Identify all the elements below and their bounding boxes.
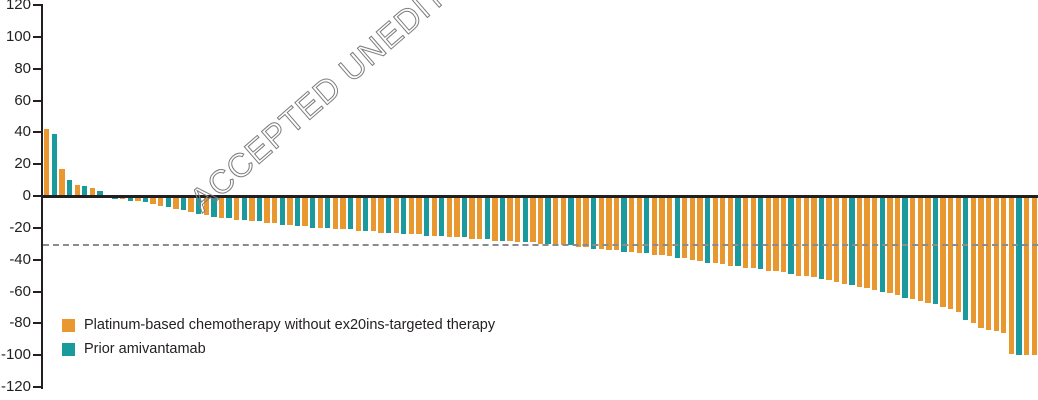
y-axis-tick <box>33 100 41 102</box>
waterfall-chart-figure: 120100806040200-20-40-60-80-100-120 ACCE… <box>0 0 1038 400</box>
waterfall-bar <box>523 196 528 242</box>
waterfall-bar <box>599 196 604 249</box>
waterfall-bar <box>416 196 421 234</box>
waterfall-bar <box>994 196 999 331</box>
waterfall-bar <box>758 196 763 269</box>
waterfall-bar <box>59 169 64 196</box>
waterfall-bar <box>515 196 520 242</box>
waterfall-bar <box>948 196 953 309</box>
waterfall-bar <box>667 196 672 256</box>
waterfall-bar <box>409 196 414 234</box>
waterfall-bar <box>477 196 482 239</box>
y-axis-tick <box>33 322 41 324</box>
waterfall-bar <box>219 196 224 218</box>
waterfall-bar <box>44 129 49 196</box>
y-axis-tick-label: -80 <box>0 315 31 330</box>
waterfall-bar <box>454 196 459 237</box>
waterfall-bar <box>804 196 809 276</box>
waterfall-bar <box>287 196 292 225</box>
waterfall-bar <box>371 196 376 231</box>
waterfall-bar <box>933 196 938 304</box>
waterfall-bar <box>394 196 399 233</box>
y-axis-tick-label: 80 <box>0 61 31 76</box>
waterfall-bar <box>52 134 57 196</box>
waterfall-bar <box>530 196 535 242</box>
waterfall-bar <box>940 196 945 307</box>
waterfall-bar <box>690 196 695 260</box>
waterfall-bar <box>325 196 330 228</box>
waterfall-bar <box>735 196 740 266</box>
waterfall-bar <box>439 196 444 236</box>
waterfall-bar <box>583 196 588 247</box>
waterfall-bar <box>553 196 558 244</box>
waterfall-bar <box>576 196 581 247</box>
waterfall-bar <box>318 196 323 228</box>
y-axis-tick <box>33 36 41 38</box>
waterfall-bar <box>682 196 687 258</box>
waterfall-bar <box>264 196 269 223</box>
waterfall-bar <box>652 196 657 255</box>
y-axis-tick-label: 0 <box>0 188 31 203</box>
y-axis-tick-label: 100 <box>0 29 31 44</box>
reference-line-minus30 <box>43 244 1038 246</box>
waterfall-bar <box>1001 196 1006 333</box>
waterfall-bar <box>857 196 862 287</box>
waterfall-bar <box>659 196 664 255</box>
y-axis-tick-label: 60 <box>0 93 31 108</box>
waterfall-bar <box>811 196 816 277</box>
waterfall-bar <box>492 196 497 241</box>
waterfall-bar <box>462 196 467 237</box>
y-axis-tick <box>33 68 41 70</box>
waterfall-bar <box>295 196 300 226</box>
y-axis-tick <box>33 354 41 356</box>
waterfall-bar <box>340 196 345 229</box>
waterfall-bar <box>356 196 361 231</box>
waterfall-bar <box>204 196 209 215</box>
waterfall-bar <box>363 196 368 231</box>
waterfall-bar <box>348 196 353 229</box>
waterfall-bar <box>728 196 733 266</box>
legend-item-prior-amivantamab: Prior amivantamab <box>62 337 495 361</box>
waterfall-bar <box>507 196 512 241</box>
waterfall-bar <box>606 196 611 250</box>
waterfall-bar <box>842 196 847 284</box>
waterfall-bar <box>67 180 72 196</box>
waterfall-bar <box>1032 196 1037 355</box>
waterfall-bar <box>713 196 718 263</box>
legend-swatch-platinum-chemo <box>62 319 75 332</box>
waterfall-bar <box>249 196 254 221</box>
y-axis-tick-label: 40 <box>0 124 31 139</box>
waterfall-bar <box>743 196 748 268</box>
y-axis-tick <box>33 259 41 261</box>
waterfall-bar <box>310 196 315 228</box>
waterfall-bar <box>568 196 573 245</box>
waterfall-bar <box>469 196 474 239</box>
y-axis-tick <box>33 131 41 133</box>
waterfall-bar <box>591 196 596 249</box>
waterfall-bar <box>1024 196 1029 355</box>
waterfall-bar <box>500 196 505 241</box>
waterfall-bar <box>675 196 680 258</box>
y-axis-tick-label: -60 <box>0 284 31 299</box>
y-axis-tick-label: 20 <box>0 156 31 171</box>
y-axis-tick-label: -100 <box>0 347 31 362</box>
y-axis-tick <box>33 163 41 165</box>
y-axis-tick <box>33 227 41 229</box>
waterfall-bar <box>196 196 201 214</box>
waterfall-bar <box>1009 196 1014 354</box>
waterfall-bar <box>819 196 824 279</box>
waterfall-bar <box>925 196 930 303</box>
waterfall-bar <box>849 196 854 285</box>
waterfall-bar <box>257 196 262 221</box>
waterfall-bar <box>705 196 710 263</box>
waterfall-bar <box>333 196 338 229</box>
waterfall-bar <box>538 196 543 244</box>
waterfall-bar <box>272 196 277 223</box>
waterfall-bar <box>720 196 725 264</box>
y-axis-tick <box>33 291 41 293</box>
waterfall-bar <box>796 196 801 276</box>
y-axis-tick <box>33 386 41 388</box>
chart-legend: Platinum-based chemotherapy without ex20… <box>62 313 495 361</box>
legend-label-platinum-chemo: Platinum-based chemotherapy without ex20… <box>84 317 495 333</box>
waterfall-bar <box>188 196 193 212</box>
y-axis-tick <box>33 4 41 6</box>
waterfall-bar <box>234 196 239 220</box>
waterfall-bar <box>834 196 839 282</box>
waterfall-bar <box>561 196 566 245</box>
waterfall-bar <box>773 196 778 271</box>
waterfall-bar <box>485 196 490 239</box>
y-axis-tick-label: 120 <box>0 0 31 12</box>
waterfall-bar <box>963 196 968 320</box>
waterfall-bar <box>302 196 307 226</box>
zero-baseline <box>43 195 1038 198</box>
waterfall-bar <box>401 196 406 234</box>
waterfall-bar <box>781 196 786 272</box>
waterfall-bar <box>378 196 383 233</box>
waterfall-bar <box>424 196 429 236</box>
waterfall-bar <box>447 196 452 237</box>
waterfall-bar <box>211 196 216 217</box>
y-axis-tick-label: -40 <box>0 252 31 267</box>
waterfall-bar <box>614 196 619 250</box>
waterfall-bar <box>545 196 550 244</box>
waterfall-bar <box>751 196 756 268</box>
waterfall-bar <box>956 196 961 312</box>
waterfall-bar <box>918 196 923 301</box>
waterfall-bar <box>826 196 831 280</box>
legend-swatch-prior-amivantamab <box>62 343 75 356</box>
waterfall-bar <box>432 196 437 236</box>
waterfall-bar <box>697 196 702 261</box>
waterfall-bar <box>910 196 915 299</box>
waterfall-bar <box>386 196 391 233</box>
waterfall-bar <box>978 196 983 328</box>
waterfall-bar <box>864 196 869 288</box>
waterfall-bar <box>766 196 771 271</box>
waterfall-bar <box>1016 196 1021 355</box>
y-axis-tick <box>33 195 41 197</box>
waterfall-bar <box>280 196 285 225</box>
waterfall-bar <box>226 196 231 218</box>
waterfall-bar <box>242 196 247 220</box>
y-axis-tick-label: -20 <box>0 220 31 235</box>
waterfall-bar <box>971 196 976 323</box>
waterfall-bar <box>788 196 793 274</box>
y-axis-tick-label: -120 <box>0 379 31 394</box>
waterfall-bar <box>902 196 907 298</box>
legend-label-prior-amivantamab: Prior amivantamab <box>84 341 206 357</box>
waterfall-bar <box>986 196 991 330</box>
legend-item-platinum-chemo: Platinum-based chemotherapy without ex20… <box>62 313 495 337</box>
waterfall-bar <box>181 196 186 210</box>
